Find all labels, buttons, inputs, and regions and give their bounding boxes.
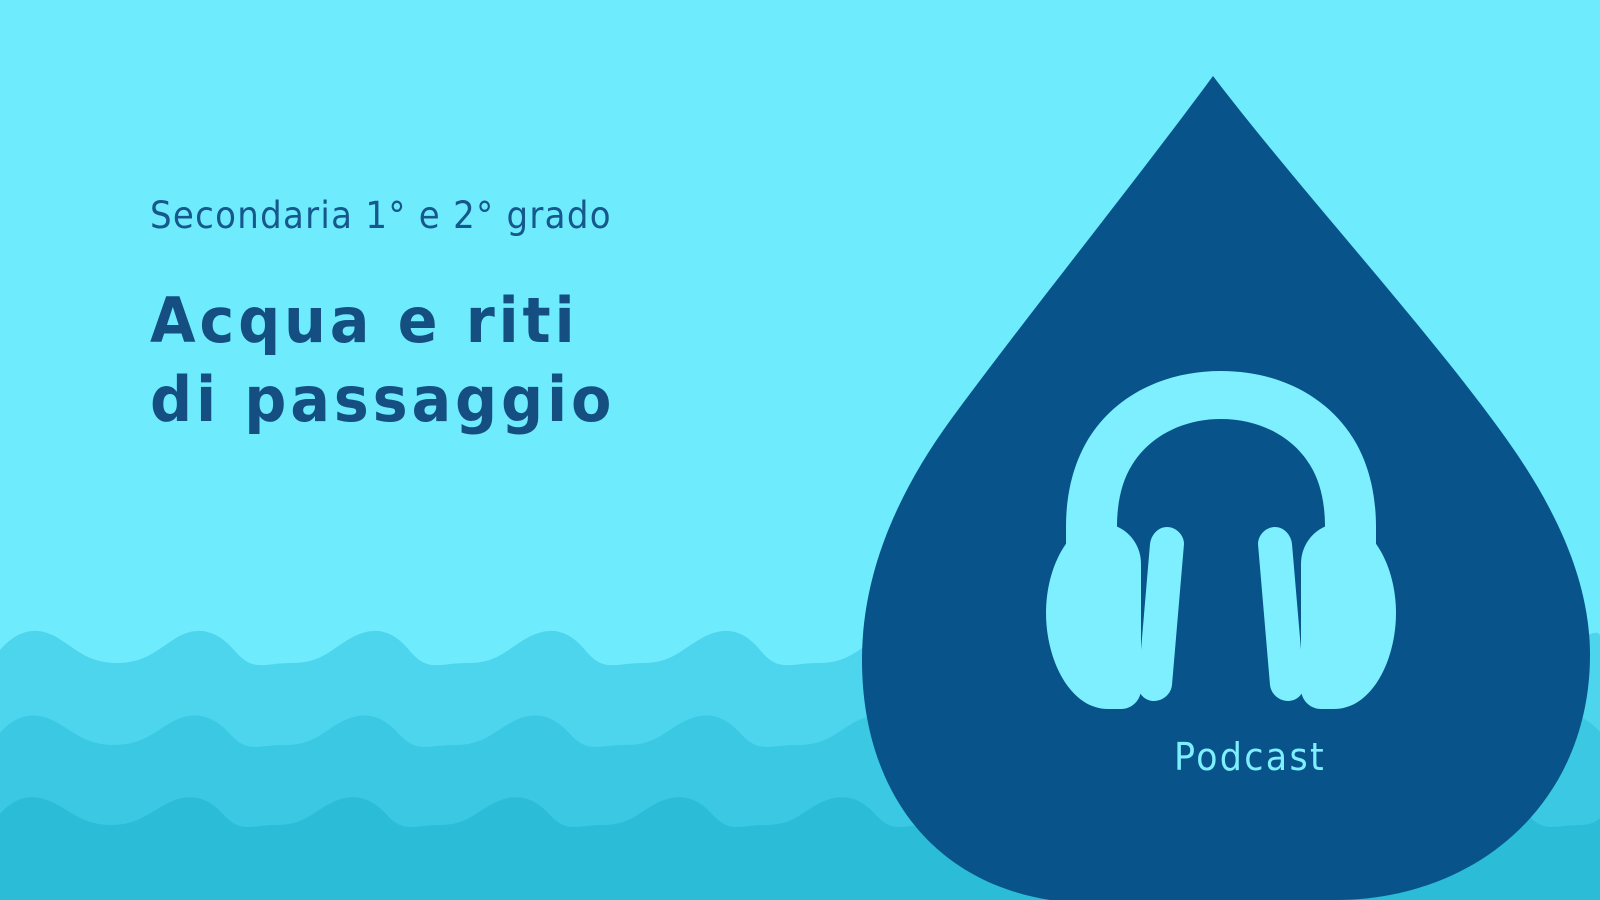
- podcast-badge-label: Podcast: [1144, 735, 1356, 779]
- background-artwork: [0, 0, 1600, 900]
- podcast-cover-card: Secondaria 1° e 2° grado Acqua e riti di…: [0, 0, 1600, 900]
- page-title-line-2: di passaggio: [150, 360, 815, 439]
- page-title: Acqua e riti di passaggio: [150, 237, 815, 440]
- page-title-line-1: Acqua e riti: [150, 281, 815, 360]
- audience-label: Secondaria 1° e 2° grado: [150, 196, 794, 237]
- text-block: Secondaria 1° e 2° grado Acqua e riti di…: [150, 196, 850, 439]
